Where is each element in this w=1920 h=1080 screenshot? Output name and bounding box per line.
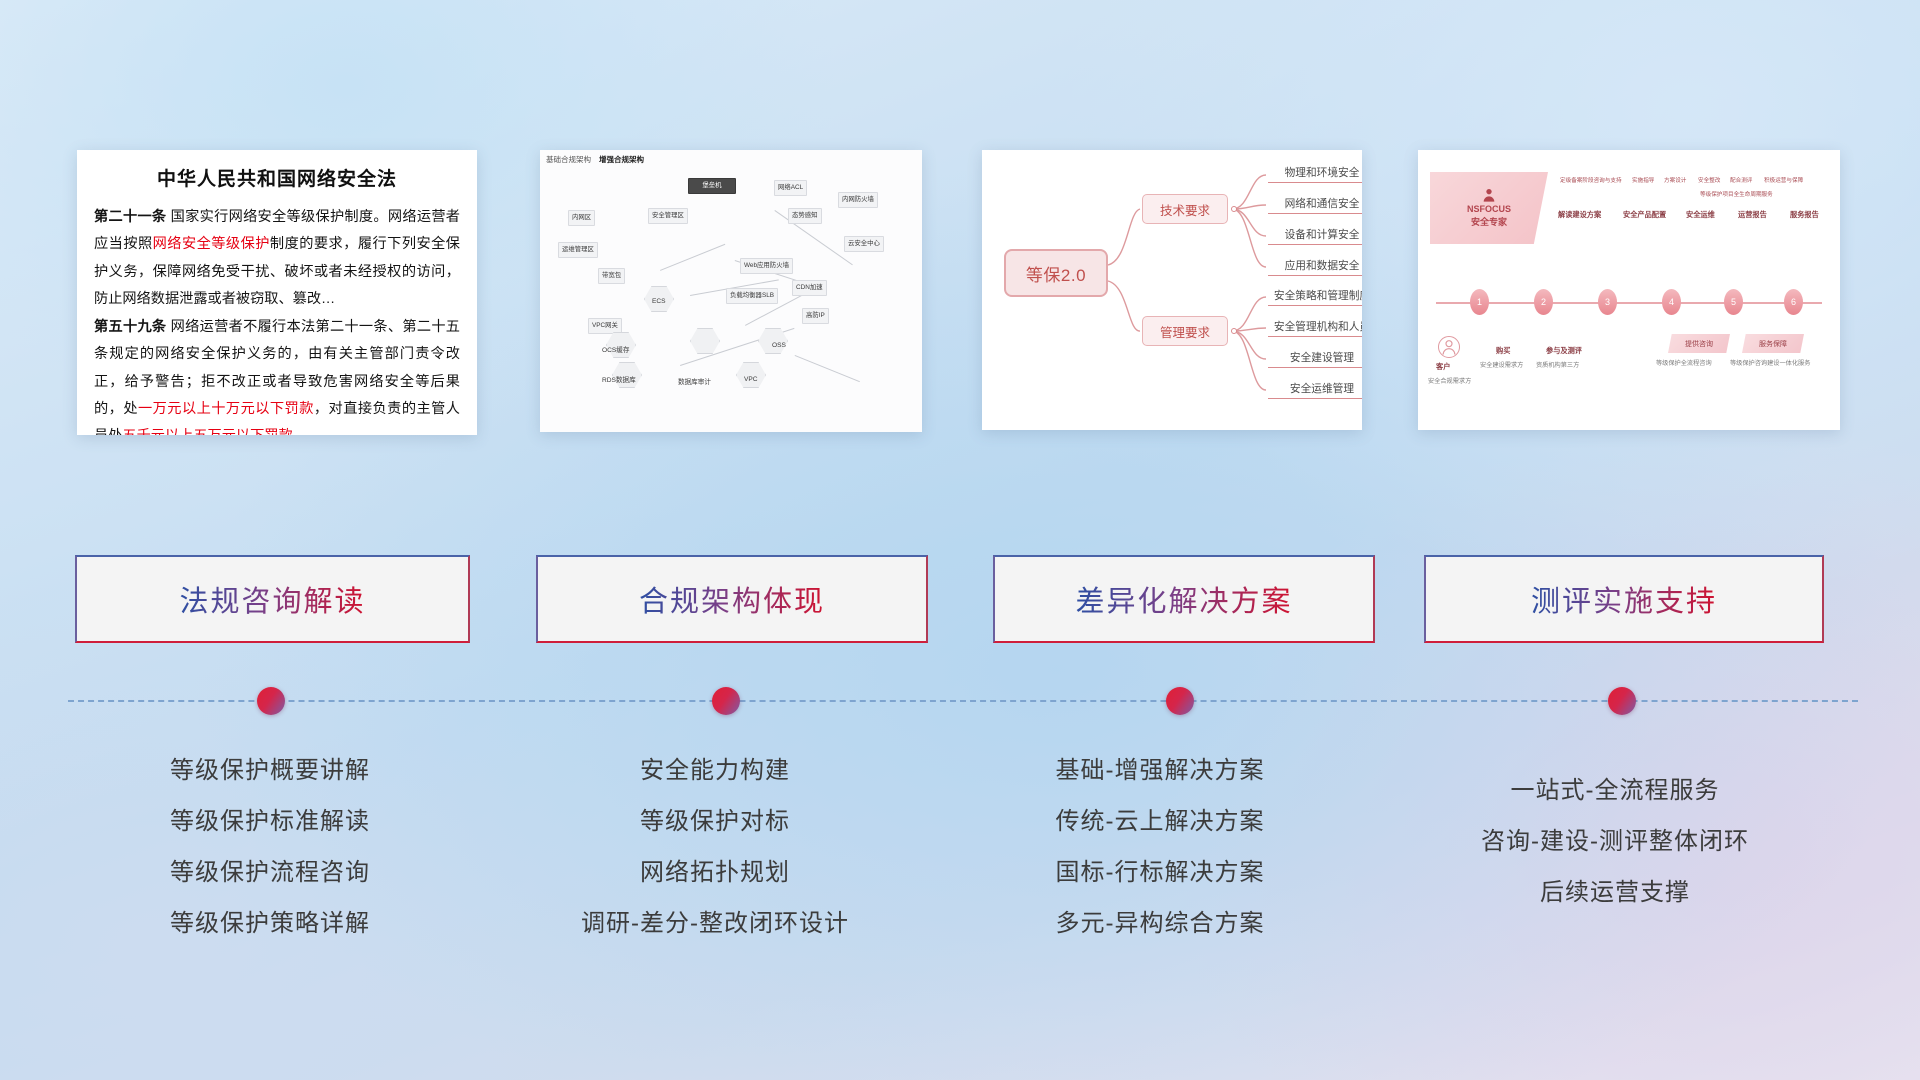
arch-node-situation-awareness: 态势感知: [788, 208, 822, 224]
timeline-dot-1[interactable]: [257, 687, 285, 715]
nsfocus-phase-1: 安全产品配置: [1623, 210, 1666, 220]
timeline-dashed-line: [68, 700, 1858, 702]
law-article-21: 第二十一条 国家实行网络安全等级保护制度。网络运营者应当按照网络安全等级保护制度…: [94, 204, 460, 313]
list-item: 等级保护流程咨询: [75, 847, 465, 898]
arch-node-network-acl: 网络ACL: [774, 180, 807, 196]
architecture-diagram: 基础合规架构 增强合规架构 堡垒机 内网区 运维管理区 安全管理区 带宽包 VP: [540, 150, 922, 432]
list-item: 安全能力构建: [520, 745, 910, 796]
arch-label-ocs: OCS缓存: [602, 344, 629, 354]
card-mindmap: 等保2.0 技术要求 管理要求 物理和环境安全 网络和通信安全 设备和计算安全 …: [982, 150, 1362, 430]
nsfocus-diagram: NSFOCUS 安全专家 定级备案阶段咨询与支持 实施指导 方案设计 安全整改 …: [1418, 150, 1840, 430]
arch-node-security-zone: 安全管理区: [648, 208, 688, 224]
nsfocus-role-1: 参与及测评: [1546, 346, 1582, 356]
list-item: 等级保护标准解读: [75, 796, 465, 847]
arch-hex-audit: [690, 328, 720, 354]
mindmap-leaf-network-comm: 网络和通信安全: [1268, 195, 1362, 214]
nsfocus-top-label-4: 配合测评: [1730, 176, 1752, 184]
arch-node-vpc-gateway: VPC网关: [588, 318, 622, 334]
arch-connector: [660, 244, 725, 271]
nsfocus-brand-band: NSFOCUS 安全专家: [1430, 172, 1548, 244]
arch-label-audit: 数据库审计: [678, 376, 711, 386]
nsfocus-brand-sub: 安全专家: [1471, 216, 1507, 229]
mindmap-diagram: 等保2.0 技术要求 管理要求 物理和环境安全 网络和通信安全 设备和计算安全 …: [982, 150, 1362, 430]
arch-label-oss: OSS: [772, 342, 786, 349]
label-box-compliance-architecture[interactable]: 合规架构体现: [536, 555, 928, 643]
nsfocus-role-0: 购买: [1496, 346, 1510, 356]
card-cybersecurity-law: 中华人民共和国网络安全法 第二十一条 国家实行网络安全等级保护制度。网络运营者应…: [77, 150, 477, 435]
list-item: 基础-增强解决方案: [960, 745, 1360, 796]
arch-label-ecs: ECS: [652, 298, 666, 305]
nsfocus-customer-sub: 安全合规需求方: [1428, 376, 1471, 385]
bullet-list-3: 基础-增强解决方案 传统-云上解决方案 国标-行标解决方案 多元-异构综合方案: [960, 745, 1360, 949]
nsfocus-phase-3: 运营报告: [1738, 210, 1767, 220]
nsfocus-role-sub-1: 资质机构第三方: [1536, 360, 1579, 369]
nsfocus-phase-4: 服务报告: [1790, 210, 1819, 220]
article-59-label: 第五十九条: [94, 319, 166, 335]
list-item: 等级保护对标: [520, 796, 910, 847]
cards-row: 中华人民共和国网络安全法 第二十一条 国家实行网络安全等级保护制度。网络运营者应…: [0, 150, 1920, 450]
nsfocus-top-label-2: 方案设计: [1664, 176, 1686, 184]
nsfocus-step-1: 1: [1470, 289, 1489, 315]
nsfocus-top-label-3: 安全整改: [1698, 176, 1720, 184]
nsfocus-phase-2: 安全运维: [1686, 210, 1715, 220]
arch-node-ops-zone: 运维管理区: [558, 242, 598, 258]
mindmap-leaf-org-personnel: 安全管理机构和人员: [1268, 318, 1362, 337]
mindmap-leaf-ops-mgmt: 安全运维管理: [1268, 380, 1362, 399]
timeline-dot-2[interactable]: [712, 687, 740, 715]
label-box-assessment-support[interactable]: 测评实施支持: [1424, 555, 1824, 643]
list-item: 咨询-建设-测评整体闭环: [1405, 816, 1825, 867]
timeline-dot-4[interactable]: [1608, 687, 1636, 715]
nsfocus-role-sub-0: 安全建设需求方: [1480, 360, 1523, 369]
nsfocus-customer-label: 客户: [1436, 362, 1450, 372]
arch-node-bastion: 堡垒机: [688, 178, 736, 194]
label-box-regulation-consulting[interactable]: 法规咨询解读: [75, 555, 470, 643]
nsfocus-top-label-1: 实施指导: [1632, 176, 1654, 184]
arch-node-cloud-security-center: 云安全中心: [844, 236, 884, 252]
bullet-list-4: 一站式-全流程服务 咨询-建设-测评整体闭环 后续运营支撑: [1405, 765, 1825, 918]
nsfocus-step-6: 6: [1784, 289, 1803, 315]
article-59-highlight-2: 五千元以上五万元以下罚款。: [122, 428, 306, 435]
card-compliance-architecture: 基础合规架构 增强合规架构 堡垒机 内网区 运维管理区 安全管理区 带宽包 VP: [540, 150, 922, 432]
nsfocus-top-label-0: 定级备案阶段咨询与支持: [1560, 176, 1622, 184]
label-box-differentiated-solution[interactable]: 差异化解决方案: [993, 555, 1375, 643]
arch-node-anti-ddos: 高防IP: [802, 308, 829, 324]
nsfocus-top-label-6: 等级保护项目全生命周期服务: [1700, 190, 1773, 198]
list-item: 调研-差分-整改闭环设计: [520, 898, 910, 949]
arch-node-slb: 负载均衡器SLB: [726, 288, 778, 304]
law-title: 中华人民共和国网络安全法: [94, 164, 460, 191]
arch-label-vpc: VPC: [744, 376, 758, 383]
label-text-1: 合规架构体现: [639, 578, 825, 620]
card-nsfocus-timeline: NSFOCUS 安全专家 定级备案阶段咨询与支持 实施指导 方案设计 安全整改 …: [1418, 150, 1840, 430]
timeline-dot-3[interactable]: [1166, 687, 1194, 715]
nsfocus-axis-line: [1436, 302, 1822, 304]
mindmap-node-dot: [1231, 206, 1237, 212]
architecture-tabs: 基础合规架构 增强合规架构: [546, 154, 644, 165]
bullet-list-1: 等级保护概要讲解 等级保护标准解读 等级保护流程咨询 等级保护策略详解: [75, 745, 465, 949]
article-21-highlight: 网络安全等级保护: [153, 236, 270, 252]
arch-label-rds: RDS数据库: [602, 374, 636, 384]
list-item: 后续运营支撑: [1405, 867, 1825, 918]
list-item: 等级保护概要讲解: [75, 745, 465, 796]
customer-avatar-icon: [1439, 337, 1459, 357]
arch-node-firewall: 内网防火墙: [838, 192, 878, 208]
expert-person-icon: [1481, 187, 1497, 203]
mindmap-root-node: 等保2.0: [1004, 249, 1108, 297]
arch-node-bandwidth: 带宽包: [598, 268, 625, 284]
nsfocus-chip-0: 提供咨询: [1668, 334, 1730, 353]
mindmap-branch-management: 管理要求: [1142, 316, 1228, 346]
mindmap-leaf-device-compute: 设备和计算安全: [1268, 226, 1362, 245]
list-item: 传统-云上解决方案: [960, 796, 1360, 847]
arch-tab-basic[interactable]: 基础合规架构: [546, 154, 591, 165]
nsfocus-step-5: 5: [1724, 289, 1743, 315]
article-59-highlight-1: 一万元以上十万元以下罚款: [138, 401, 314, 417]
arch-hex-vpc: [736, 362, 766, 388]
nsfocus-step-4: 4: [1662, 289, 1681, 315]
arch-node-waf: Web应用防火墙: [740, 258, 793, 274]
arch-connector: [795, 355, 860, 382]
arch-node-internal-zone: 内网区: [568, 210, 595, 226]
list-item: 国标-行标解决方案: [960, 847, 1360, 898]
list-item: 多元-异构综合方案: [960, 898, 1360, 949]
nsfocus-phase-0: 解读建设方案: [1558, 210, 1601, 220]
label-boxes-row: 法规咨询解读 合规架构体现 差异化解决方案 测评实施支持: [0, 555, 1920, 645]
mindmap-leaf-policy-system: 安全策略和管理制度: [1268, 287, 1362, 306]
nsfocus-step-2: 2: [1534, 289, 1553, 315]
label-text-3: 测评实施支持: [1531, 578, 1717, 620]
nsfocus-chip-sub-0: 等级保护全流程咨询: [1656, 358, 1712, 367]
mindmap-leaf-app-data: 应用和数据安全: [1268, 257, 1362, 276]
mindmap-leaf-construction-mgmt: 安全建设管理: [1268, 349, 1362, 368]
article-21-label: 第二十一条: [94, 209, 166, 225]
label-text-2: 差异化解决方案: [1075, 578, 1292, 620]
list-item: 一站式-全流程服务: [1405, 765, 1825, 816]
nsfocus-brand: NSFOCUS: [1467, 203, 1511, 216]
label-text-0: 法规咨询解读: [179, 578, 365, 620]
nsfocus-chip-1: 服务保障: [1742, 334, 1804, 353]
list-item: 网络拓扑规划: [520, 847, 910, 898]
arch-node-cdn: CDN加速: [792, 280, 827, 296]
customer-person-icon: [1438, 336, 1460, 358]
infographic-canvas: 中华人民共和国网络安全法 第二十一条 国家实行网络安全等级保护制度。网络运营者应…: [0, 0, 1920, 1080]
nsfocus-chip-sub-1: 等级保护咨询建设一体化服务: [1730, 358, 1810, 367]
law-body: 中华人民共和国网络安全法 第二十一条 国家实行网络安全等级保护制度。网络运营者应…: [77, 150, 477, 435]
mindmap-branch-technical: 技术要求: [1142, 194, 1228, 224]
mindmap-leaf-physical-env: 物理和环境安全: [1268, 164, 1362, 183]
mindmap-node-dot: [1231, 328, 1237, 334]
nsfocus-top-label-5: 积极运营与保障: [1764, 176, 1803, 184]
arch-tab-enhanced[interactable]: 增强合规架构: [599, 154, 644, 165]
bullet-list-2: 安全能力构建 等级保护对标 网络拓扑规划 调研-差分-整改闭环设计: [520, 745, 910, 949]
nsfocus-step-3: 3: [1598, 289, 1617, 315]
law-article-59: 第五十九条 网络运营者不履行本法第二十一条、第二十五条规定的网络安全保护义务的，…: [94, 314, 460, 435]
list-item: 等级保护策略详解: [75, 898, 465, 949]
